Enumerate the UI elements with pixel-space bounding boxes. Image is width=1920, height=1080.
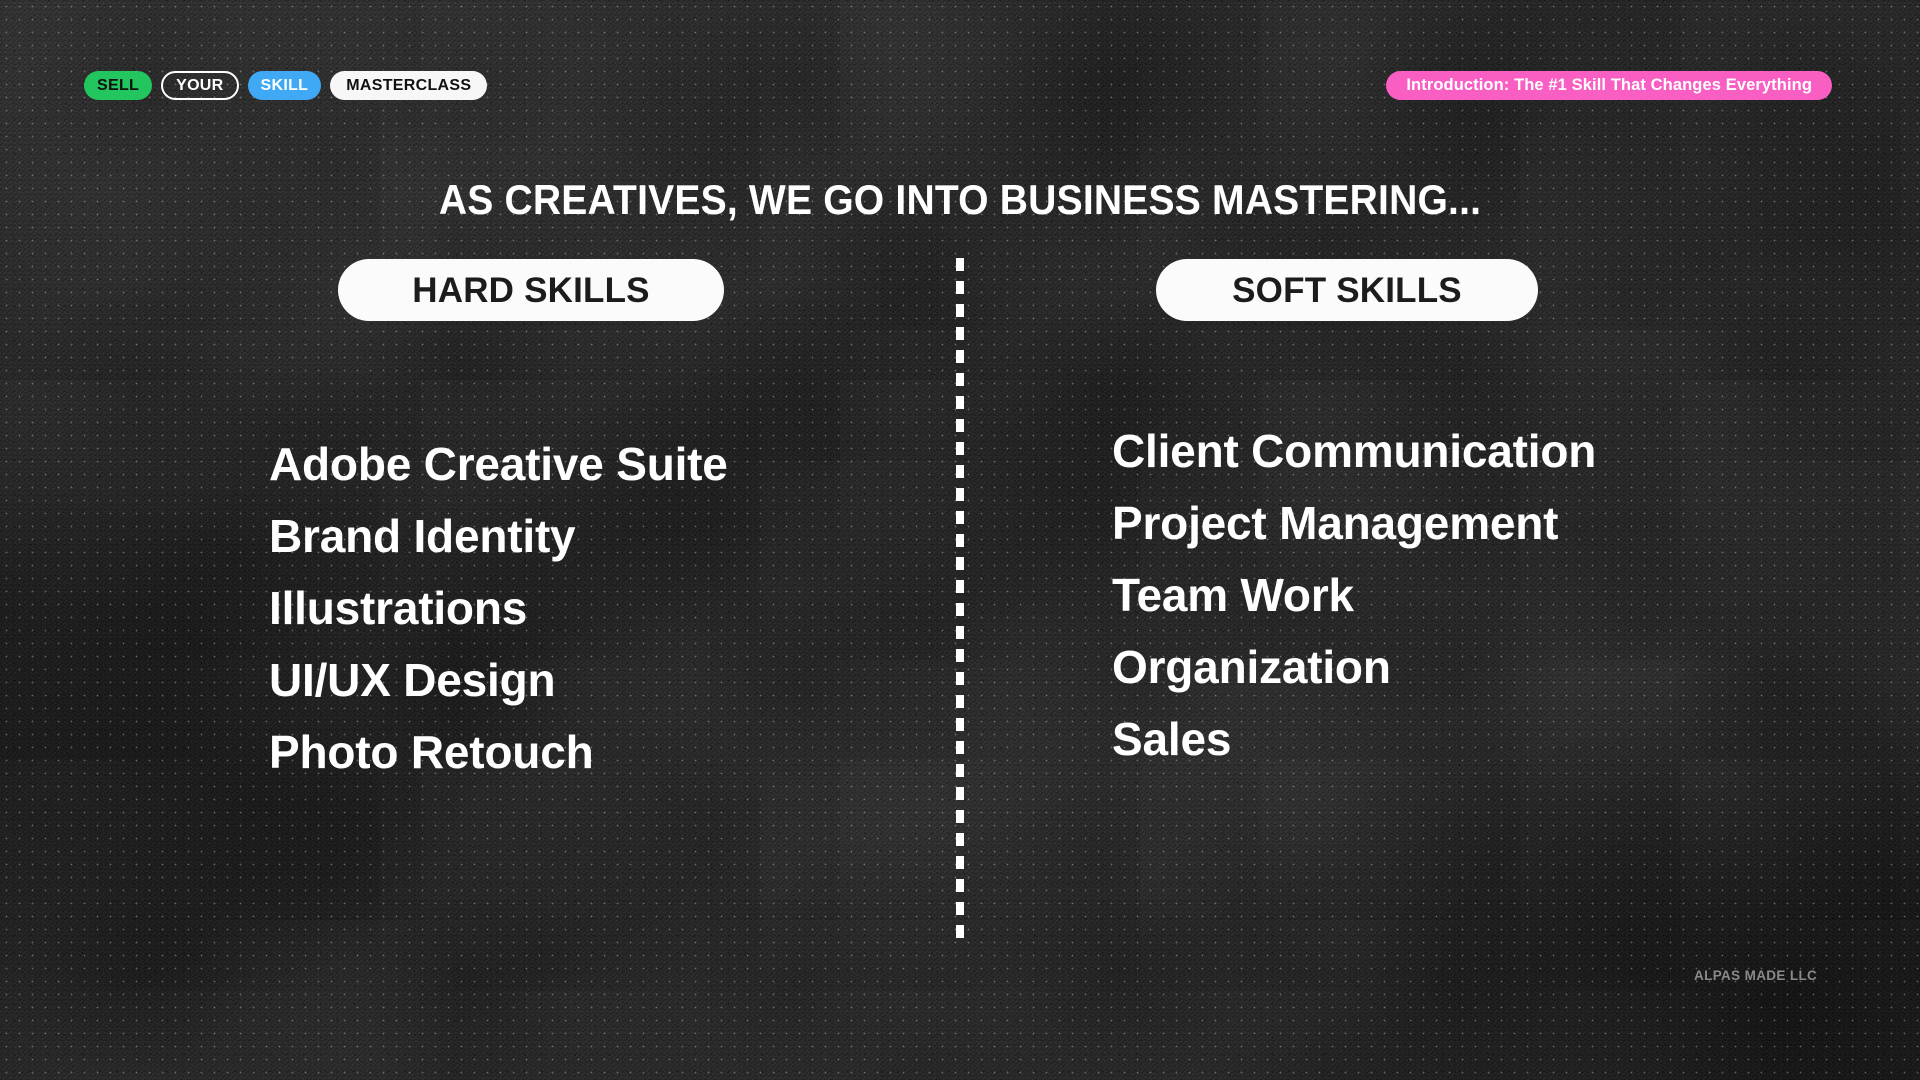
chapter-title-badge: Introduction: The #1 Skill That Changes …	[1386, 71, 1832, 100]
soft-skills-list: Client Communication Project Management …	[1112, 416, 1596, 776]
list-item: Brand Identity	[269, 501, 728, 573]
slide-canvas: SELL YOUR SKILL MASTERCLASS Introduction…	[0, 0, 1920, 1080]
list-item: Project Management	[1112, 488, 1596, 560]
footer-credit: ALPAS MADE LLC	[1694, 968, 1817, 983]
list-item: UI/UX Design	[269, 645, 728, 717]
hard-skills-list: Adobe Creative Suite Brand Identity Illu…	[269, 429, 728, 789]
brand-badge-skill: SKILL	[248, 71, 322, 100]
list-item: Organization	[1112, 632, 1596, 704]
list-item: Illustrations	[269, 573, 728, 645]
slide-headline: AS CREATIVES, WE GO INTO BUSINESS MASTER…	[67, 176, 1853, 224]
list-item: Team Work	[1112, 560, 1596, 632]
vertical-dashed-divider	[956, 258, 964, 946]
soft-skills-column: SOFT SKILLS Client Communication Project…	[960, 250, 1920, 1080]
hard-skills-heading: HARD SKILLS	[338, 259, 724, 321]
brand-badge-sell: SELL	[84, 71, 152, 100]
brand-badge-your: YOUR	[161, 71, 238, 100]
soft-skills-heading: SOFT SKILLS	[1156, 259, 1538, 321]
list-item: Adobe Creative Suite	[269, 429, 728, 501]
hard-skills-column: HARD SKILLS Adobe Creative Suite Brand I…	[0, 250, 960, 1080]
brand-badge-row: SELL YOUR SKILL MASTERCLASS	[84, 71, 487, 100]
list-item: Photo Retouch	[269, 717, 728, 789]
brand-badge-masterclass: MASTERCLASS	[330, 71, 487, 100]
list-item: Sales	[1112, 704, 1596, 776]
list-item: Client Communication	[1112, 416, 1596, 488]
